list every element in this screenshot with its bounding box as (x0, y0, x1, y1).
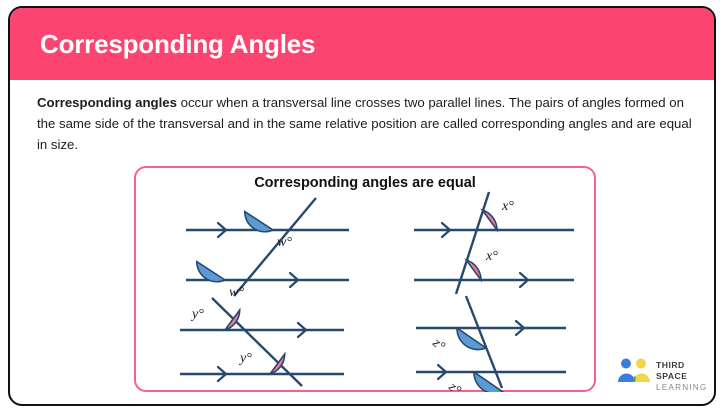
page-title: Corresponding Angles (40, 29, 315, 60)
lesson-card: Corresponding Angles Corresponding angle… (8, 6, 716, 406)
figure-top-right: x° x° (394, 190, 594, 298)
diagram-title: Corresponding angles are equal (136, 175, 594, 191)
angle-label: y° (238, 351, 252, 366)
angle-label: x° (485, 249, 498, 264)
page-header: Corresponding Angles (10, 8, 714, 80)
figure-bottom-right: z° z° (406, 292, 606, 392)
angle-label: z° (445, 379, 464, 392)
angle-label: x° (501, 199, 514, 214)
angle-label: y° (190, 307, 204, 322)
angle-label: w° (277, 235, 292, 250)
logo-line-2: LEARNING (656, 382, 716, 393)
intro-lead: Corresponding angles (37, 95, 177, 110)
figure-bottom-left: y° y° (162, 292, 362, 392)
third-space-logo-mark (616, 356, 652, 386)
logo-line-1: THIRD SPACE (656, 360, 716, 382)
figure-top-left: w° w° (164, 196, 364, 298)
brand-logo: THIRD SPACE LEARNING (616, 356, 716, 390)
intro-paragraph: Corresponding angles occur when a transv… (37, 92, 693, 155)
angle-label: z° (429, 335, 448, 354)
diagram-panel: Corresponding angles are equal w° w° (134, 166, 596, 392)
logo-wordmark: THIRD SPACE LEARNING (656, 360, 716, 393)
